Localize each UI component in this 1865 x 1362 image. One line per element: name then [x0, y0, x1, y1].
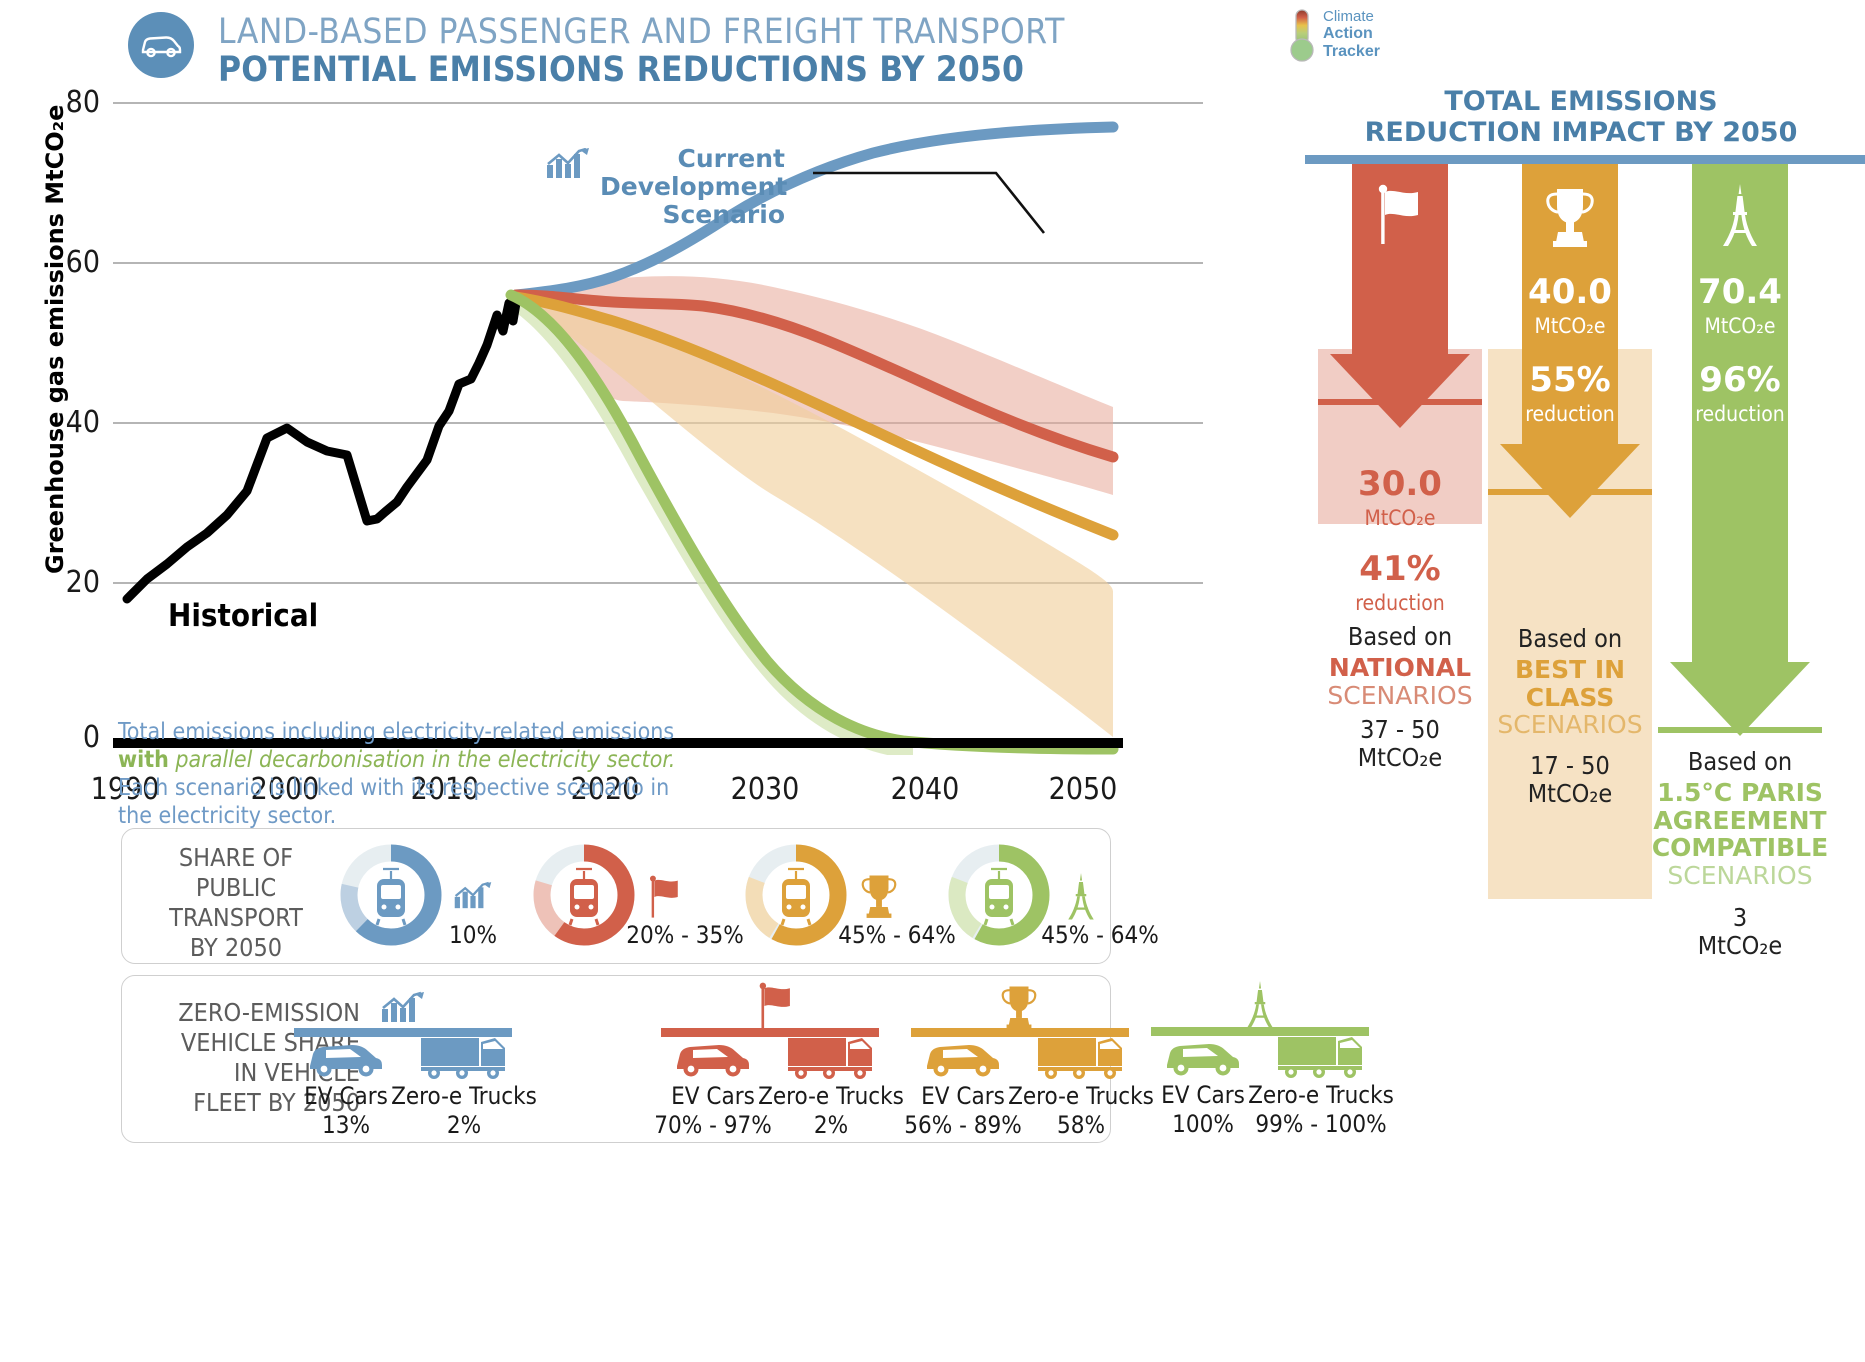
note-line-2-rest: parallel decarbonisation in the electric… [169, 747, 675, 773]
right-panel-title: TOTAL EMISSIONS REDUCTION IMPACT BY 2050 [1297, 86, 1865, 149]
y-tick-40: 40 [20, 405, 100, 440]
ze-value-text-4-2: 99% - 100% [1255, 1110, 1386, 1138]
logo-line-climate: Climate [1323, 8, 1374, 25]
tram-icon [985, 869, 1013, 925]
national-scenario-bold: NATIONAL [1329, 653, 1471, 682]
public-transport-legend: SHARE OFPUBLICTRANSPORTBY 2050 10% [121, 828, 1111, 964]
series-historical [127, 295, 525, 599]
bic-range-value: 17 - 50 [1530, 751, 1610, 780]
ze-value-text-3-2: 58% [1057, 1111, 1105, 1139]
ze-value-text-1-2: 2% [447, 1111, 481, 1139]
flag-icon [649, 875, 681, 919]
bic-scenario-bold-1: BEST IN [1515, 655, 1625, 684]
public-transport-legend-title: SHARE OFPUBLICTRANSPORTBY 2050 [136, 843, 336, 963]
national-range-unit: MtCO₂e [1358, 743, 1443, 772]
national-arrow-head [1330, 354, 1470, 428]
ze-value-text-2-2: 2% [814, 1111, 848, 1139]
y-tick-60: 60 [20, 245, 100, 280]
truck-icon [784, 1034, 878, 1080]
trophy-icon [1000, 984, 1038, 1030]
chart-note: Total emissions including electricity-re… [118, 718, 878, 830]
note-line-4: the electricity sector. [118, 802, 878, 830]
cds-leader-line [813, 173, 1044, 233]
paris-range: 3 MtCO₂e [1646, 904, 1834, 960]
paris-value-unit: MtCO₂e [1670, 314, 1810, 338]
truck-icon [1274, 1033, 1368, 1079]
national-percent: 41% [1330, 549, 1470, 589]
right-panel-title-line2: REDUCTION IMPACT BY 2050 [1297, 117, 1865, 148]
y-tick-0: 0 [20, 720, 100, 755]
thermometer-icon [1287, 8, 1317, 64]
page-title-line2: POTENTIAL EMISSIONS REDUCTIONS BY 2050 [218, 50, 1024, 90]
bic-scenario-light: SCENARIOS [1497, 710, 1642, 739]
zero-emission-legend: ZERO-EMISSIONVEHICLE SHAREIN VEHICLEFLEE… [121, 975, 1111, 1143]
paris-value: 70.4 [1670, 272, 1810, 312]
right-panel-title-line1: TOTAL EMISSIONS [1297, 86, 1865, 117]
y-tick-20: 20 [20, 565, 100, 600]
bic-percent: 55% [1500, 360, 1640, 400]
note-line-2: with parallel decarbonisation in the ele… [118, 746, 878, 774]
ze-value-text-4-1: 100% [1172, 1110, 1234, 1138]
x-tick-2050: 2050 [1013, 772, 1153, 807]
car-icon [140, 32, 182, 58]
ze-label-text-1-2: Zero-e Trucks [391, 1082, 537, 1110]
y-axis-label-text: Greenhouse gas emissions MtCO₂e [41, 105, 69, 574]
paris-scenario-bold-3: COMPATIBLE [1652, 833, 1828, 862]
ze-label-text-4-2: Zero-e Trucks [1248, 1081, 1394, 1109]
paris-scenario-name: 1.5°C PARIS AGREEMENT COMPATIBLE SCENARI… [1646, 779, 1834, 889]
cds-label-line2: Development [600, 172, 787, 201]
paris-scenario-light: SCENARIOS [1667, 861, 1812, 890]
eiffel-tower-icon [1243, 981, 1277, 1029]
cds-label-line1: Current [677, 144, 785, 173]
national-reduction-label: reduction [1330, 591, 1470, 615]
public-transport-value-4: 45% - 64% [1015, 921, 1185, 949]
page-title-line1: LAND-BASED PASSENGER AND FREIGHT TRANSPO… [218, 12, 1065, 52]
national-range: 37 - 50 MtCO₂e [1306, 716, 1494, 772]
note-line-2-bold: with [118, 747, 169, 773]
tram-icon [377, 869, 405, 925]
tram-icon [570, 869, 598, 925]
bic-reduction-label: reduction [1500, 402, 1640, 426]
bic-scenario-bold-2: CLASS [1526, 683, 1615, 712]
bic-scenario-name: BEST IN CLASS SCENARIOS [1476, 656, 1664, 739]
paris-based-on: Based on [1646, 747, 1834, 776]
note-line-3: Each scenario is linked with its respect… [118, 774, 878, 802]
truck-icon [417, 1034, 511, 1080]
y-tick-80: 80 [20, 85, 100, 120]
national-based-on: Based on [1306, 622, 1494, 651]
note-line-1: Total emissions including electricity-re… [118, 718, 878, 746]
bic-value-unit: MtCO₂e [1500, 314, 1640, 338]
right-panel-top-bar [1305, 155, 1865, 164]
eiffel-tower-icon [1718, 184, 1762, 248]
paris-scenario-bold-2: AGREEMENT [1653, 806, 1826, 835]
trophy-icon [860, 873, 898, 919]
bic-range-unit: MtCO₂e [1528, 779, 1613, 808]
logo-line-tracker: Tracker [1323, 43, 1380, 61]
national-scenario-light: SCENARIOS [1327, 681, 1472, 710]
bic-range: 17 - 50 MtCO₂e [1476, 752, 1664, 808]
paris-range-value: 3 [1733, 903, 1747, 932]
ev-car-icon [921, 1038, 1005, 1078]
ev-car-icon [671, 1038, 755, 1078]
paris-reduction-label: reduction [1670, 402, 1810, 426]
truck-icon [1034, 1034, 1128, 1080]
trophy-icon [1544, 186, 1596, 248]
ze-item-label-4-2: Zero-e Trucks 99% - 100% [1226, 1081, 1416, 1139]
logo-line-action: Action [1323, 25, 1373, 43]
cds-label: Current Development Scenario [600, 145, 785, 229]
ev-car-icon [304, 1038, 388, 1078]
ze-value-text-1-1: 13% [322, 1111, 370, 1139]
ze-item-label-1-2: Zero-e Trucks 2% [369, 1082, 559, 1140]
tram-icon [782, 869, 810, 925]
bic-based-on: Based on [1476, 624, 1664, 653]
national-value-unit: MtCO₂e [1330, 506, 1470, 530]
climate-action-tracker-logo: Climate Action Tracker [1287, 8, 1397, 66]
eiffel-tower-icon [1064, 873, 1098, 921]
growth-chart-icon [380, 988, 426, 1028]
national-scenario-name: NATIONAL SCENARIOS [1306, 654, 1494, 709]
bic-value: 40.0 [1500, 272, 1640, 312]
bic-arrow-head [1500, 444, 1640, 518]
paris-arrow-head [1670, 662, 1810, 736]
ze-group-4: EV Cars 100% Zero-e Trucks 99% - 100% [1121, 975, 1551, 1141]
historical-label: Historical [168, 598, 318, 634]
growth-chart-icon [453, 881, 493, 911]
national-range-value: 37 - 50 [1360, 715, 1440, 744]
cds-label-line3: Scenario [662, 200, 785, 229]
growth-chart-icon [545, 148, 591, 180]
y-axis-label: Greenhouse gas emissions MtCO₂e [41, 114, 69, 574]
paris-range-unit: MtCO₂e [1698, 931, 1783, 960]
flag-icon [759, 982, 793, 1030]
ev-car-icon [1161, 1037, 1245, 1077]
paris-scenario-bold-1: 1.5°C PARIS [1657, 778, 1823, 807]
national-value: 30.0 [1330, 464, 1470, 504]
flag-icon [1378, 184, 1422, 246]
paris-percent: 96% [1670, 360, 1810, 400]
header-car-badge [128, 12, 194, 78]
